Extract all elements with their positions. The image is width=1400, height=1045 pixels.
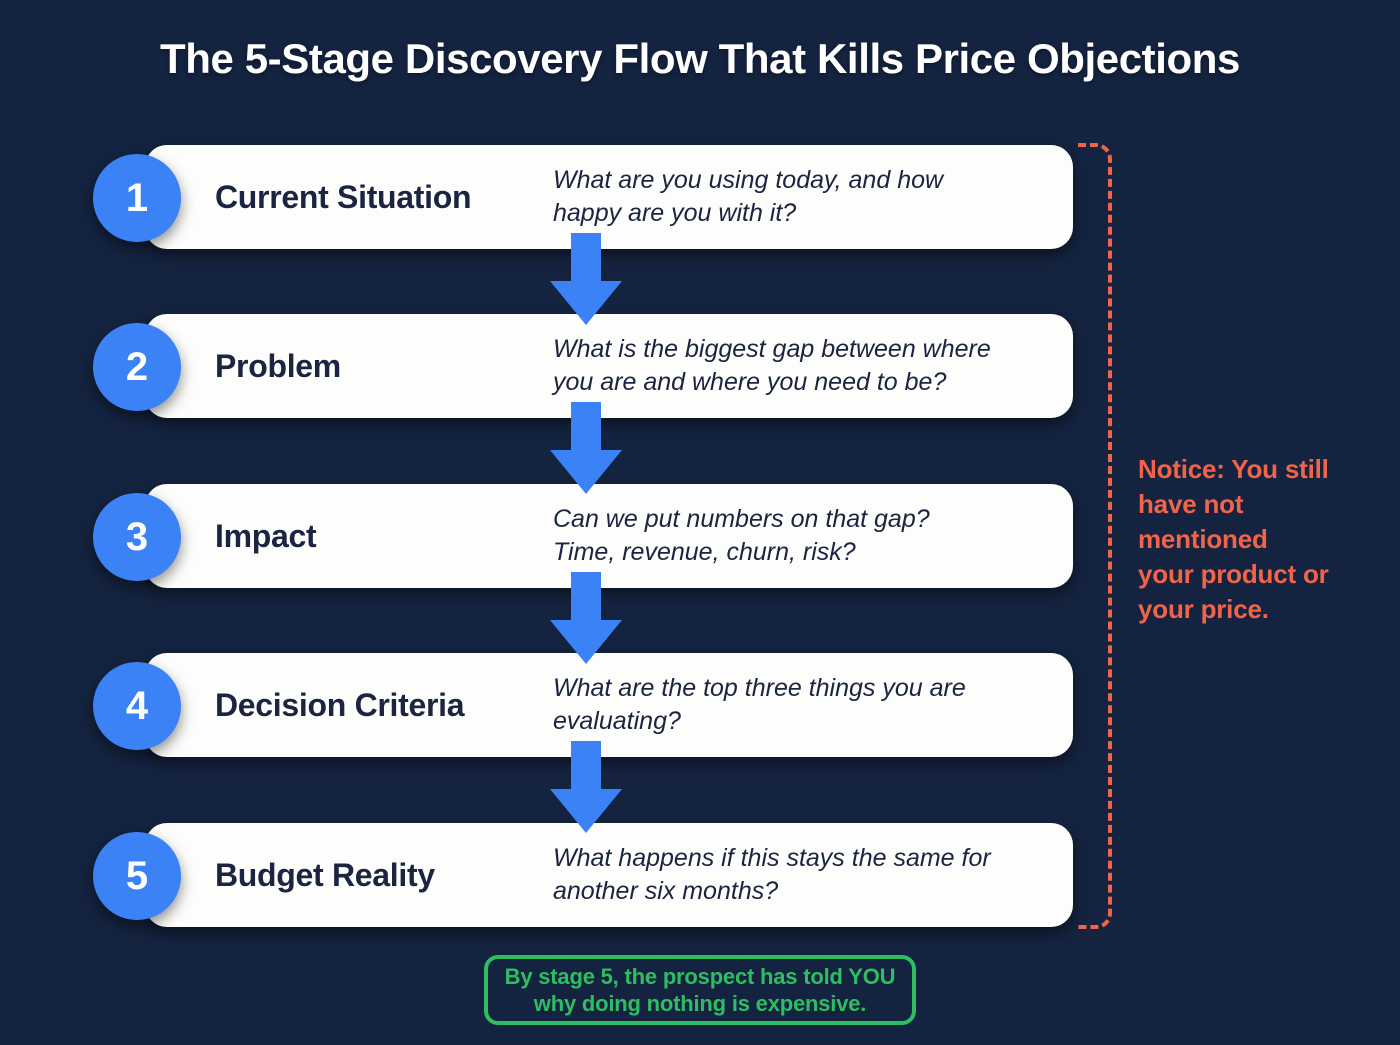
stage-number-badge-5: 5 [93, 832, 181, 920]
notice-line-1: Notice: You still [1138, 452, 1386, 487]
stage-question-1: What are you using today, and how happy … [553, 145, 1053, 249]
stage-question-4-line1: What are the top three things you are [553, 672, 966, 705]
stage-question-2-line1: What is the biggest gap between where [553, 333, 991, 366]
stage-question-2-line2: you are and where you need to be? [553, 366, 991, 399]
outcome-callout-box: By stage 5, the prospect has told YOU wh… [484, 955, 916, 1025]
stage-question-3: Can we put numbers on that gap? Time, re… [553, 484, 1053, 588]
stage-question-3-line2: Time, revenue, churn, risk? [553, 536, 930, 569]
stage-question-5-line1: What happens if this stays the same for [553, 842, 991, 875]
arrow-down-icon-4 [550, 741, 622, 833]
outcome-line-2: why doing nothing is expensive. [505, 990, 896, 1017]
notice-line-3: mentioned [1138, 522, 1386, 557]
infographic-canvas: The 5-Stage Discovery Flow That Kills Pr… [0, 0, 1400, 1045]
outcome-line-1: By stage 5, the prospect has told YOU [505, 963, 896, 990]
page-title: The 5-Stage Discovery Flow That Kills Pr… [0, 34, 1400, 84]
arrow-down-icon-1 [550, 233, 622, 325]
outcome-callout-text: By stage 5, the prospect has told YOU wh… [505, 963, 896, 1017]
stage-question-4-line2: evaluating? [553, 705, 966, 738]
notice-bracket-dashed [1078, 143, 1112, 929]
stage-number-badge-3: 3 [93, 493, 181, 581]
stage-label-2: Problem [215, 314, 545, 418]
arrow-down-icon-3 [550, 572, 622, 664]
notice-line-5: your price. [1138, 592, 1386, 627]
stage-number-badge-2: 2 [93, 323, 181, 411]
stage-question-2: What is the biggest gap between where yo… [553, 314, 1053, 418]
stage-question-1-line1: What are you using today, and how [553, 164, 943, 197]
notice-annotation: Notice: You still have not mentioned you… [1138, 452, 1386, 627]
stage-label-1: Current Situation [215, 145, 545, 249]
stage-question-4: What are the top three things you are ev… [553, 653, 1053, 757]
stage-number-badge-1: 1 [93, 154, 181, 242]
notice-line-2: have not [1138, 487, 1386, 522]
stage-question-1-line2: happy are you with it? [553, 197, 943, 230]
stage-label-3: Impact [215, 484, 545, 588]
arrow-down-icon-2 [550, 402, 622, 494]
stage-label-4: Decision Criteria [215, 653, 545, 757]
stage-question-5: What happens if this stays the same for … [553, 823, 1053, 927]
notice-line-4: your product or [1138, 557, 1386, 592]
stage-question-3-line1: Can we put numbers on that gap? [553, 503, 930, 536]
stage-row-5[interactable]: 5 Budget Reality What happens if this st… [93, 823, 1073, 927]
stage-question-5-line2: another six months? [553, 875, 991, 908]
stage-label-5: Budget Reality [215, 823, 545, 927]
stage-number-badge-4: 4 [93, 662, 181, 750]
